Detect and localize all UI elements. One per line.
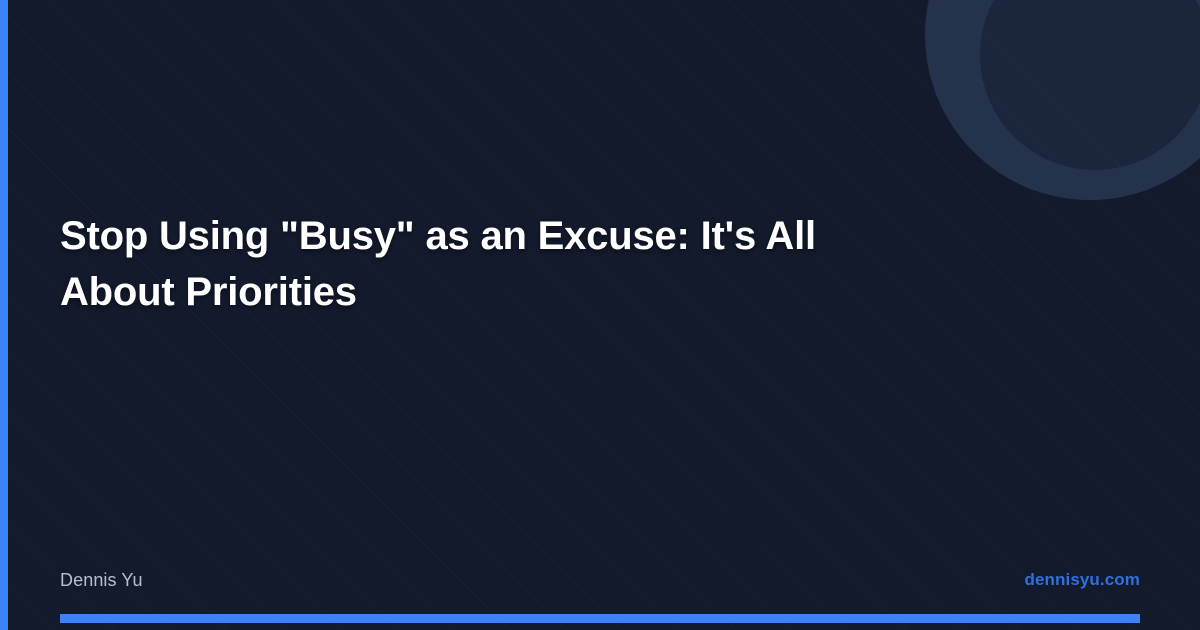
page-title: Stop Using "Busy" as an Excuse: It's All…: [60, 208, 880, 320]
author-name: Dennis Yu: [60, 570, 143, 591]
website-link[interactable]: dennisyu.com: [1024, 570, 1140, 590]
left-accent-bar: [0, 0, 8, 630]
bottom-accent-bar: [60, 614, 1140, 623]
social-share-card: Stop Using "Busy" as an Excuse: It's All…: [0, 0, 1200, 630]
card-footer: Dennis Yu dennisyu.com: [60, 566, 1140, 594]
card-content: Stop Using "Busy" as an Excuse: It's All…: [0, 0, 1200, 630]
